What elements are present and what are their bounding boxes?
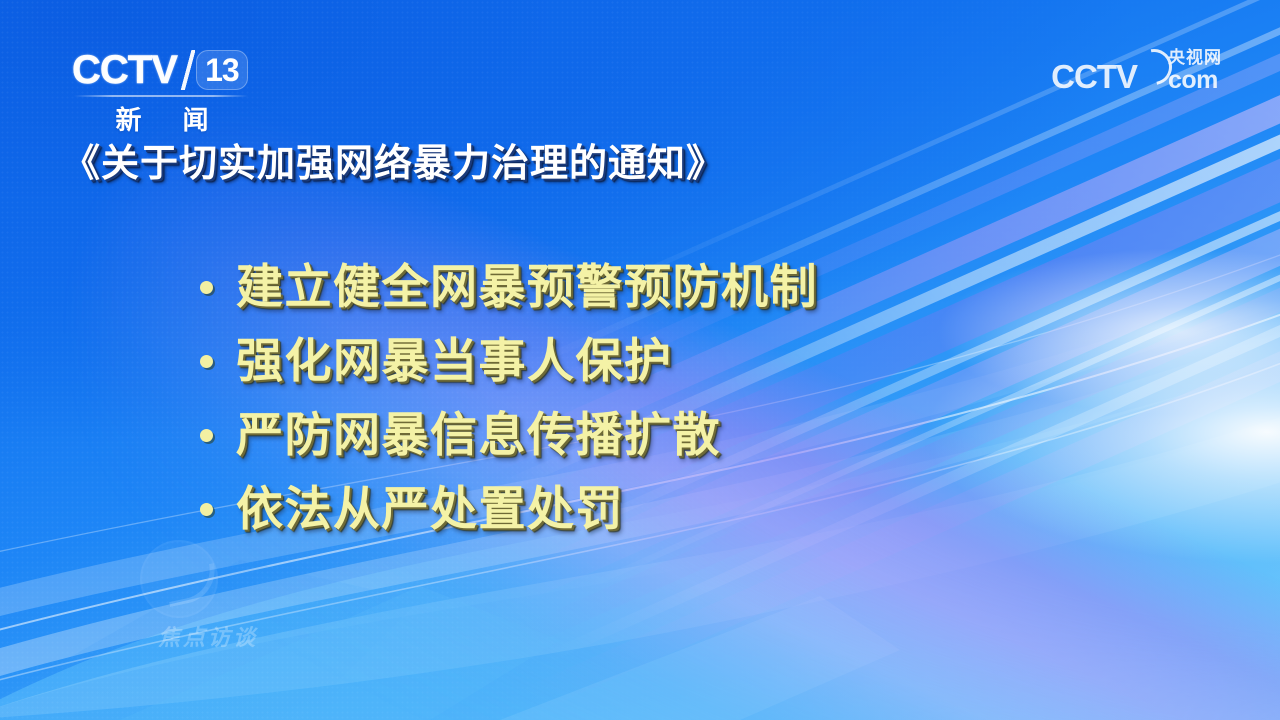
broadcast-graphic: CCTV 13 新 闻 CCTV 央视网 com 《关于切实加强网络暴力治理的通… — [0, 0, 1280, 720]
web-watermark-main: CCTV — [1051, 60, 1137, 93]
program-watermark: 焦点访谈 — [118, 540, 298, 650]
bullet-dot-icon — [200, 429, 213, 442]
web-watermark-arc-icon — [1136, 55, 1170, 93]
channel-logo-slash-icon — [180, 50, 195, 90]
channel-logo-number: 13 — [196, 50, 248, 90]
list-item: 依法从严处置处罚 — [200, 472, 818, 546]
bullet-dot-icon — [200, 503, 213, 516]
channel-logo: CCTV 13 新 闻 — [72, 48, 252, 130]
list-item: 建立健全网暴预警预防机制 — [200, 250, 818, 324]
program-watermark-name: 焦点访谈 — [118, 620, 298, 652]
web-watermark: CCTV 央视网 com — [1051, 50, 1222, 93]
bullet-dot-icon — [200, 355, 213, 368]
headline-title: 《关于切实加强网络暴力治理的通知》 — [62, 132, 725, 187]
bullet-dot-icon — [200, 281, 213, 294]
channel-logo-underline — [74, 95, 248, 97]
web-watermark-domain: com — [1168, 68, 1218, 93]
list-item: 严防网暴信息传播扩散 — [200, 398, 818, 472]
bullet-item-label: 强化网暴当事人保护 — [236, 338, 673, 385]
bullet-item-label: 严防网暴信息传播扩散 — [236, 412, 721, 459]
bullet-item-label: 建立健全网暴预警预防机制 — [236, 264, 818, 311]
bullet-list: 建立健全网暴预警预防机制 强化网暴当事人保护 严防网暴信息传播扩散 依法从严处置… — [200, 250, 818, 546]
bullet-item-label: 依法从严处置处罚 — [236, 486, 624, 533]
list-item: 强化网暴当事人保护 — [200, 324, 818, 398]
channel-logo-network: CCTV — [72, 50, 177, 90]
